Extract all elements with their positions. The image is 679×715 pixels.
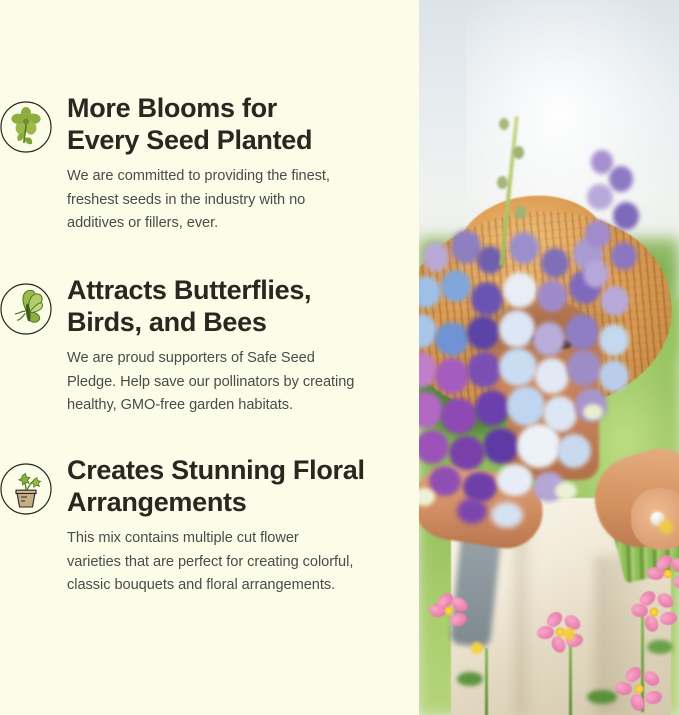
feature-text-block: Attracts Butterflies, Birds, and Bees We… — [54, 274, 419, 418]
cosmos-flower — [537, 612, 583, 652]
delphinium-spike-right — [569, 150, 649, 310]
cosmos-flower — [615, 668, 663, 710]
cosmos-flower — [647, 556, 679, 592]
feature-item-more-blooms: More Blooms for Every Seed Planted We ar… — [0, 92, 419, 236]
feature-body: We are proud supporters of Safe Seed Ple… — [67, 347, 405, 418]
feature-title: Creates Stunning Floral Arrangements — [67, 454, 405, 518]
features-column: More Blooms for Every Seed Planted We ar… — [0, 0, 419, 715]
feature-text-block: Creates Stunning Floral Arrangements Thi… — [54, 454, 419, 598]
flower-sprout-icon — [0, 92, 54, 154]
feature-title: Attracts Butterflies, Birds, and Bees — [67, 274, 405, 338]
cosmos-flower — [429, 594, 469, 628]
lifestyle-photo — [419, 0, 679, 715]
cosmos-flower — [631, 592, 677, 632]
feature-body: We are committed to providing the finest… — [67, 165, 405, 236]
feature-body: This mix contains multiple cut flower va… — [67, 527, 405, 598]
feature-title: More Blooms for Every Seed Planted — [67, 92, 405, 156]
product-feature-panel: More Blooms for Every Seed Planted We ar… — [0, 0, 679, 715]
cosmos-stem — [485, 648, 488, 715]
butterfly-icon — [0, 274, 54, 336]
feature-text-block: More Blooms for Every Seed Planted We ar… — [54, 92, 419, 236]
potted-plant-icon — [0, 454, 54, 516]
feature-item-floral-arrangements: Creates Stunning Floral Arrangements Thi… — [0, 454, 419, 598]
dress-fold — [515, 520, 535, 715]
feature-item-attracts-pollinators: Attracts Butterflies, Birds, and Bees We… — [0, 274, 419, 418]
photo-stage — [419, 0, 679, 715]
